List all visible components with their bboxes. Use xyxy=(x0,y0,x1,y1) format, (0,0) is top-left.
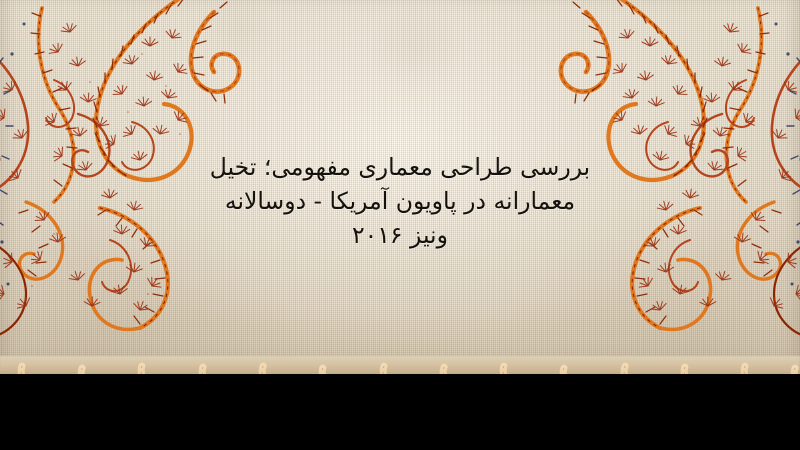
title-line-3: ونیز ۲۰۱۶ xyxy=(0,218,800,252)
title-line-2: معمارانه در پاویون آمریکا - دوسالانه xyxy=(0,184,800,218)
black-backdrop xyxy=(0,374,800,450)
slide-title: بررسی طراحی معماری مفهومی؛ تخیل معمارانه… xyxy=(0,150,800,252)
slide-canvas: بررسی طراحی معماری مفهومی؛ تخیل معمارانه… xyxy=(0,0,800,450)
title-line-1: بررسی طراحی معماری مفهومی؛ تخیل xyxy=(0,150,800,184)
